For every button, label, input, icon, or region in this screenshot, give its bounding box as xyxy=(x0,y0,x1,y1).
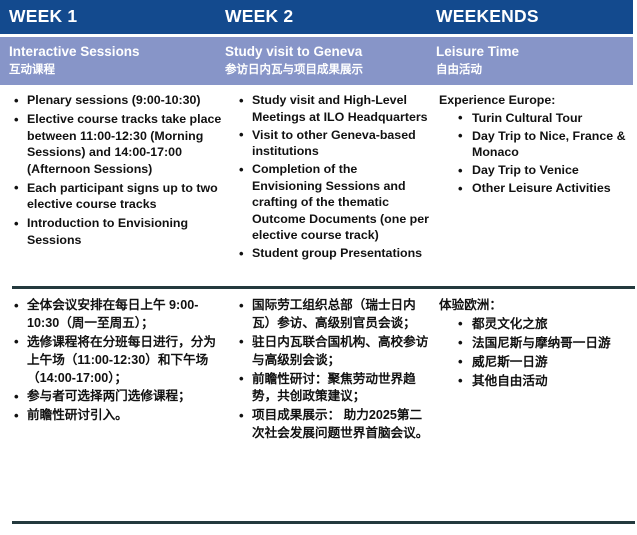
subheader-title-english: Leisure Time xyxy=(436,43,633,61)
english-content-row: Plenary sessions (9:00-10:30) Elective c… xyxy=(0,92,637,282)
list-item: 全体会议安排在每日上午 9:00-10:30（周一至周五）； xyxy=(13,297,225,333)
chinese-bullet-list: 全体会议安排在每日上午 9:00-10:30（周一至周五）； 选修课程将在分班每… xyxy=(13,297,225,425)
header-cell-week-1: WEEK 1 xyxy=(0,0,212,34)
english-cell-week-2: Study visit and High-Level Meetings at I… xyxy=(225,92,430,282)
list-item: 驻日内瓦联合国机构、高校参访与高级别会谈； xyxy=(238,334,430,370)
table-subheader-row: Interactive Sessions 互动课程 Study visit to… xyxy=(0,37,633,85)
chinese-content-row: 全体会议安排在每日上午 9:00-10:30（周一至周五）； 选修课程将在分班每… xyxy=(0,297,637,512)
list-item: Each participant signs up to two electiv… xyxy=(13,180,225,213)
chinese-cell-week-1: 全体会议安排在每日上午 9:00-10:30（周一至周五）； 选修课程将在分班每… xyxy=(0,297,225,512)
list-item: Elective course tracks take place betwee… xyxy=(13,111,225,177)
subheader-cell-weekends: Leisure Time 自由活动 xyxy=(425,37,633,85)
schedule-table: WEEK 1 WEEK 2 WEEKENDS Interactive Sessi… xyxy=(0,0,637,535)
column-header-title: WEEK 2 xyxy=(225,8,293,26)
list-item: Day Trip to Nice, France & Monaco xyxy=(457,128,637,161)
subheader-title-chinese: 参访日内瓦与项目成果展示 xyxy=(225,62,425,79)
list-item: Visit to other Geneva-based institutions xyxy=(238,127,430,160)
subheader-title-english: Interactive Sessions xyxy=(9,43,212,61)
list-item: 项目成果展示： 助力2025第二次社会发展问题世界首脑会议。 xyxy=(238,407,430,443)
list-item: Student group Presentations xyxy=(238,245,430,262)
list-item: Turin Cultural Tour xyxy=(457,110,637,127)
header-cell-weekends: WEEKENDS xyxy=(425,0,633,34)
list-item: 前瞻性研讨：聚焦劳动世界趋势，共创政策建议； xyxy=(238,371,430,407)
chinese-bullet-list: 国际劳工组织总部（瑞士日内瓦）参访、高级别官员会谈； 驻日内瓦联合国机构、高校参… xyxy=(238,297,430,443)
subheader-title-chinese: 自由活动 xyxy=(436,62,633,79)
list-item: 国际劳工组织总部（瑞士日内瓦）参访、高级别官员会谈； xyxy=(238,297,430,333)
list-item: 参与者可选择两门选修课程； xyxy=(13,388,225,406)
section-divider-bottom xyxy=(12,521,635,524)
english-cell-weekends: Experience Europe: Turin Cultural Tour D… xyxy=(430,92,637,282)
subheader-title-chinese: 互动课程 xyxy=(9,62,212,79)
chinese-bullet-list: 都灵文化之旅 法国尼斯与摩纳哥一日游 威尼斯一日游 其他自由活动 xyxy=(439,316,637,391)
list-item: Study visit and High-Level Meetings at I… xyxy=(238,92,430,125)
list-item: 威尼斯一日游 xyxy=(457,354,637,372)
subheader-title-english: Study visit to Geneva xyxy=(225,43,425,61)
english-lead-label: Experience Europe: xyxy=(439,92,637,109)
column-header-title: WEEKENDS xyxy=(436,8,539,26)
chinese-lead-label: 体验欧洲： xyxy=(439,297,637,315)
english-bullet-list: Study visit and High-Level Meetings at I… xyxy=(238,92,430,262)
list-item: 选修课程将在分班每日进行，分为上午场（11:00-12:30）和下午场（14:0… xyxy=(13,334,225,388)
chinese-cell-weekends: 体验欧洲： 都灵文化之旅 法国尼斯与摩纳哥一日游 威尼斯一日游 其他自由活动 xyxy=(430,297,637,512)
list-item: Other Leisure Activities xyxy=(457,180,637,197)
english-cell-week-1: Plenary sessions (9:00-10:30) Elective c… xyxy=(0,92,225,282)
list-item: 前瞻性研讨引入。 xyxy=(13,407,225,425)
list-item: 其他自由活动 xyxy=(457,373,637,391)
list-item: Completion of the Envisioning Sessions a… xyxy=(238,161,430,244)
section-divider-middle xyxy=(12,286,635,289)
english-bullet-list: Turin Cultural Tour Day Trip to Nice, Fr… xyxy=(439,110,637,197)
english-bullet-list: Plenary sessions (9:00-10:30) Elective c… xyxy=(13,92,225,248)
list-item: Plenary sessions (9:00-10:30) xyxy=(13,92,225,109)
list-item: Day Trip to Venice xyxy=(457,162,637,179)
chinese-cell-week-2: 国际劳工组织总部（瑞士日内瓦）参访、高级别官员会谈； 驻日内瓦联合国机构、高校参… xyxy=(225,297,430,512)
header-cell-week-2: WEEK 2 xyxy=(212,0,425,34)
list-item: 都灵文化之旅 xyxy=(457,316,637,334)
list-item: 法国尼斯与摩纳哥一日游 xyxy=(457,335,637,353)
subheader-cell-week-1: Interactive Sessions 互动课程 xyxy=(0,37,212,85)
list-item: Introduction to Envisioning Sessions xyxy=(13,215,225,248)
subheader-cell-week-2: Study visit to Geneva 参访日内瓦与项目成果展示 xyxy=(212,37,425,85)
column-header-title: WEEK 1 xyxy=(9,8,77,26)
table-header-row: WEEK 1 WEEK 2 WEEKENDS xyxy=(0,0,633,34)
